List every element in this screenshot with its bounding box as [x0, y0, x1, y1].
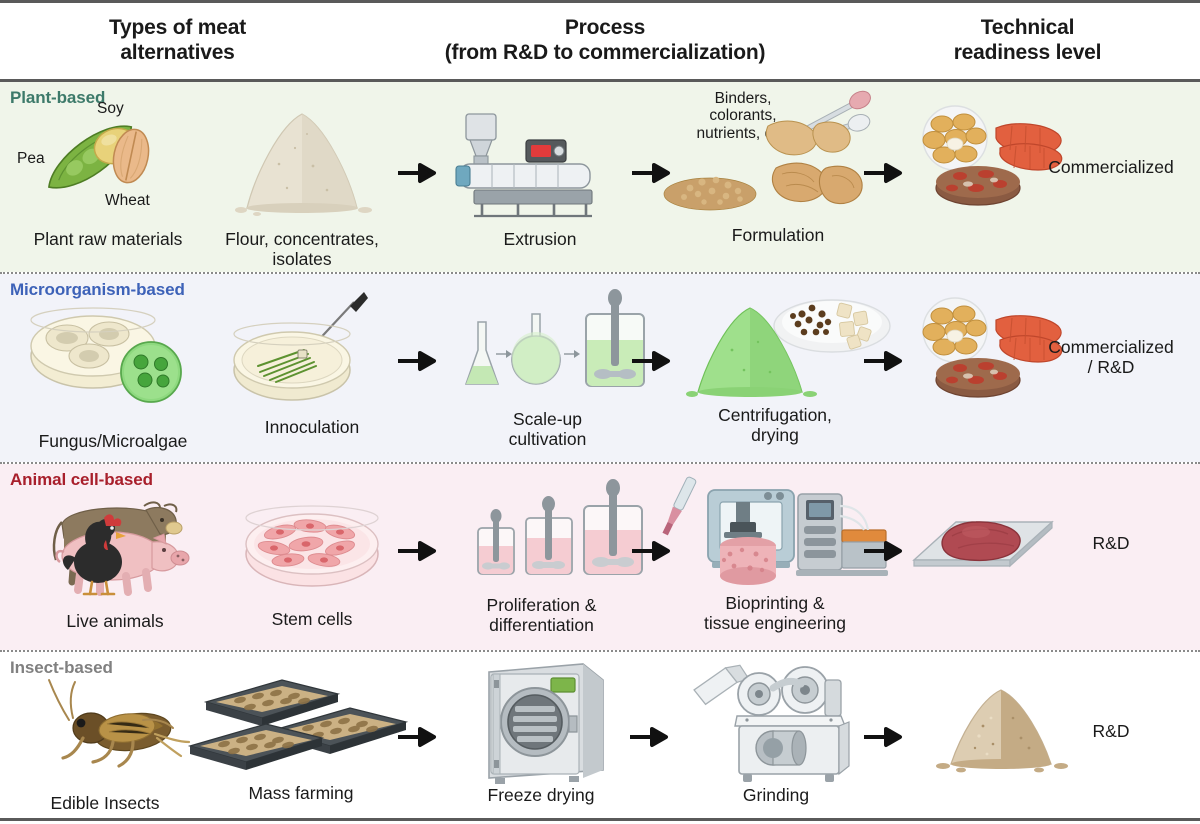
header-process: Process (from R&D to commercialization)	[355, 16, 855, 66]
caption-fungus-microalgae: Fungus/Microalgae	[8, 432, 218, 452]
step-proliferation-differentiation: Proliferation & differentiation	[434, 480, 649, 636]
caption-formulation: Formulation	[668, 226, 888, 246]
row-label-microorganism-based: Microorganism-based	[10, 280, 185, 300]
step-plant-raw-materials: Soy Pea Wheat Plant raw materials	[8, 104, 208, 250]
caption-freeze-drying: Freeze drying	[446, 786, 636, 806]
caption-mass-farming: Mass farming	[196, 784, 406, 804]
caption-centrifugation-drying: Centrifugation, drying	[662, 406, 888, 446]
bioreactors-pink-icon	[434, 480, 649, 592]
caption-plant-raw-materials: Plant raw materials	[8, 230, 208, 250]
freeze-dryer-icon	[451, 658, 631, 784]
row-separator-3	[0, 650, 1200, 652]
row-label-insect-based: Insect-based	[10, 658, 113, 678]
step-bioprinting-tissue-engineering: Bioprinting & tissue engineering	[662, 476, 888, 634]
step-fungus-microalgae: Fungus/Microalgae	[8, 298, 218, 452]
step-stem-cells: Stem cells	[222, 494, 402, 630]
flour-pile-icon	[217, 104, 387, 222]
petri-dish-muscle-cells-icon	[222, 494, 402, 598]
step-mass-farming: Mass farming	[196, 666, 406, 804]
annotation-pea: Pea	[17, 150, 45, 167]
arrow-stemcells-to-proliferation	[396, 538, 438, 564]
step-flour-concentrates: Flour, concentrates, isolates	[212, 104, 392, 270]
caption-live-animals: Live animals	[10, 612, 220, 632]
step-centrifugation-drying: Centrifugation, drying	[662, 288, 888, 446]
caption-flour-concentrates: Flour, concentrates, isolates	[212, 230, 392, 270]
step-innoculation: Innoculation	[222, 288, 402, 438]
arrow-flour-to-extrusion	[396, 160, 438, 186]
readiness-label-animal-cell: R&D	[1022, 534, 1200, 554]
caption-proliferation-differentiation: Proliferation & differentiation	[434, 596, 649, 636]
table-header: Types of meat alternatives Process (from…	[0, 0, 1200, 82]
cow-pig-chicken-icon	[20, 490, 210, 600]
row-insect-based: Insect-based	[0, 652, 1200, 818]
annotation-soy: Soy	[97, 100, 124, 117]
step-scale-up-cultivation: Scale-up cultivation	[440, 292, 655, 450]
row-separator-1	[0, 272, 1200, 274]
header-technical-readiness-level: Technical readiness level	[855, 16, 1200, 66]
caption-innoculation: Innoculation	[222, 418, 402, 438]
step-grinding: Grinding	[676, 658, 876, 806]
header-types-of-meat-alternatives: Types of meat alternatives	[0, 16, 355, 66]
grinder-machine-icon	[681, 658, 871, 784]
step-live-animals: Live animals	[10, 490, 220, 632]
figure-bottom-rule	[0, 818, 1200, 821]
petri-dish-streak-icon	[222, 288, 402, 410]
arrow-freezedrying-to-grinding	[628, 724, 670, 750]
arrow-massfarming-to-freezedrying	[396, 724, 438, 750]
annotation-wheat: Wheat	[105, 192, 150, 209]
arrow-grinding-to-readiness	[862, 724, 904, 750]
step-freeze-drying: Freeze drying	[446, 658, 636, 806]
extruder-machine-icon	[440, 104, 640, 222]
caption-scale-up-cultivation: Scale-up cultivation	[440, 410, 655, 450]
row-plant-based: Plant-based	[0, 82, 1200, 272]
row-animal-cell-based: Animal cell-based	[0, 464, 1200, 650]
step-extrusion: Extrusion	[440, 104, 640, 250]
arrow-bioprinting-to-readiness	[862, 538, 904, 564]
caption-edible-insects: Edible Insects	[10, 794, 200, 814]
arrow-extrusion-to-formulation	[630, 160, 672, 186]
pea-soy-wheat-icon: Soy Pea Wheat	[13, 104, 203, 222]
arrow-formulation-to-readiness	[862, 160, 904, 186]
cricket-icon	[15, 676, 195, 772]
arrow-innoculation-to-scaleup	[396, 348, 438, 374]
step-edible-insects: Edible Insects	[10, 676, 200, 814]
insect-trays-icon	[196, 666, 406, 776]
green-powder-plate-icon	[662, 288, 888, 404]
header-trl-line1: Technical	[855, 16, 1200, 41]
bioprinter-icon	[662, 476, 888, 592]
flasks-bioreactor-icon	[440, 292, 655, 404]
header-types-line2: alternatives	[0, 41, 355, 66]
row-label-animal-cell-based: Animal cell-based	[10, 470, 153, 490]
caption-grinding: Grinding	[676, 786, 876, 806]
caption-stem-cells: Stem cells	[222, 610, 402, 630]
readiness-label-microorganism: Commercialized / R&D	[1022, 338, 1200, 378]
header-process-line2: (from R&D to commercialization)	[355, 41, 855, 66]
header-process-line1: Process	[355, 16, 855, 41]
formulation-ingredients-icon	[668, 90, 888, 222]
row-separator-2	[0, 462, 1200, 464]
readiness-label-plant: Commercialized	[1022, 158, 1200, 178]
readiness-label-insect: R&D	[1022, 722, 1200, 742]
header-trl-line2: readiness level	[855, 41, 1200, 66]
meat-alternatives-diagram: Types of meat alternatives Process (from…	[0, 0, 1200, 824]
row-microorganism-based: Microorganism-based	[0, 274, 1200, 462]
petri-dish-algae-icon	[13, 298, 213, 410]
header-types-line1: Types of meat	[0, 16, 355, 41]
arrow-centrifugation-to-readiness	[862, 348, 904, 374]
step-formulation: Binders, colorants, nutrients, etc.	[668, 90, 888, 246]
caption-bioprinting-tissue-engineering: Bioprinting & tissue engineering	[662, 594, 888, 634]
caption-extrusion: Extrusion	[440, 230, 640, 250]
